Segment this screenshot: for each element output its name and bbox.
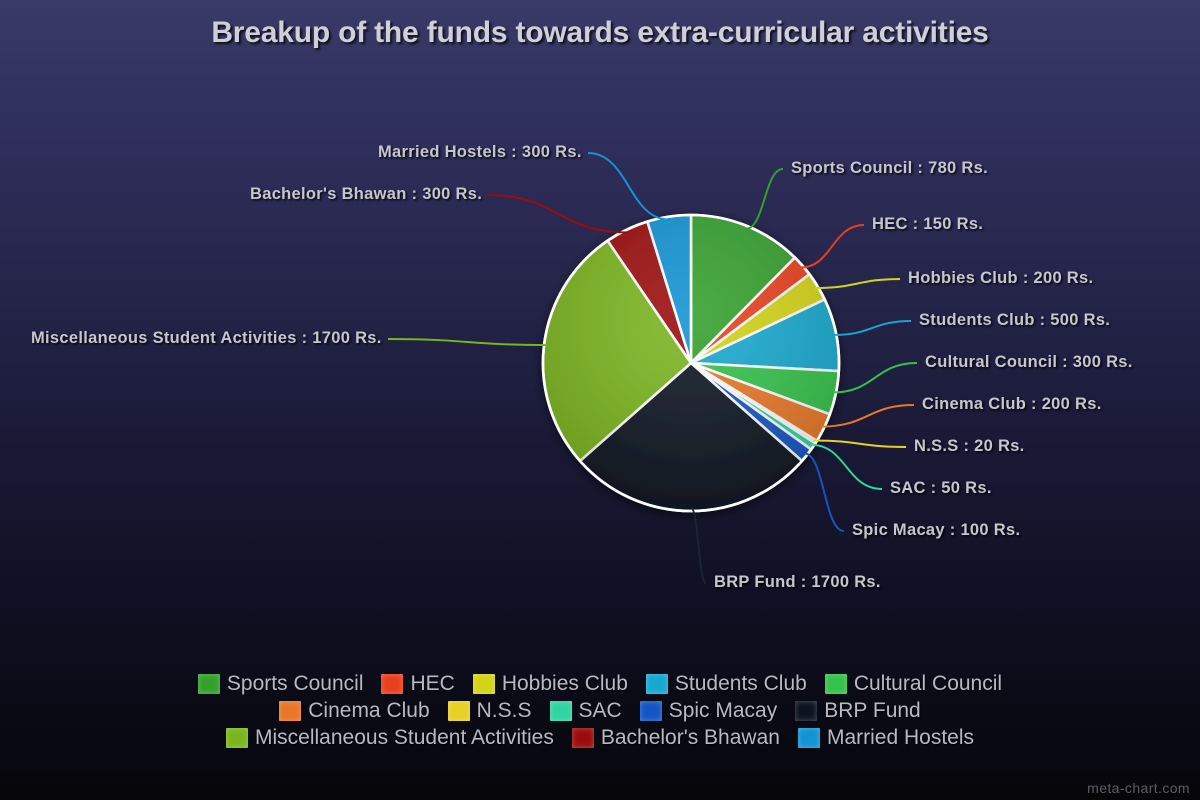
leader-line-married-hostels bbox=[588, 153, 669, 220]
legend-item-brp-fund[interactable]: BRP Fund bbox=[795, 699, 921, 723]
legend-swatch-icon bbox=[798, 728, 820, 748]
legend-label: Cultural Council bbox=[854, 672, 1002, 696]
pie-chart-figure: Breakup of the funds towards extra-curri… bbox=[0, 0, 1200, 800]
callout-label-spic-macay: Spic Macay : 100 Rs. bbox=[852, 521, 1020, 540]
legend-swatch-icon bbox=[279, 701, 301, 721]
leader-line-cinema-club bbox=[821, 405, 914, 427]
callout-label-sports-council: Sports Council : 780 Rs. bbox=[791, 159, 988, 178]
callout-label-hec: HEC : 150 Rs. bbox=[872, 215, 983, 234]
callout-label-cultural-council: Cultural Council : 300 Rs. bbox=[925, 353, 1133, 372]
legend-item-students-club[interactable]: Students Club bbox=[646, 672, 807, 696]
legend-label: N.S.S bbox=[477, 699, 532, 723]
callout-label-nss: N.S.S : 20 Rs. bbox=[914, 437, 1025, 456]
leader-line-hec bbox=[800, 225, 864, 268]
legend-swatch-icon bbox=[226, 728, 248, 748]
legend-item-hec[interactable]: HEC bbox=[381, 672, 454, 696]
legend-item-spic-macay[interactable]: Spic Macay bbox=[640, 699, 778, 723]
legend-item-cultural-council[interactable]: Cultural Council bbox=[825, 672, 1002, 696]
callout-label-students-club: Students Club : 500 Rs. bbox=[919, 311, 1110, 330]
legend-swatch-icon bbox=[550, 701, 572, 721]
legend-label: Bachelor's Bhawan bbox=[601, 726, 780, 750]
legend-swatch-icon bbox=[381, 674, 403, 694]
leader-line-brp-fund bbox=[691, 508, 706, 583]
callout-label-brp-fund: BRP Fund : 1700 Rs. bbox=[714, 573, 881, 592]
chart-legend: Sports CouncilHECHobbies ClubStudents Cl… bbox=[0, 672, 1200, 750]
leader-line-students-club bbox=[833, 321, 911, 335]
legend-label: HEC bbox=[410, 672, 454, 696]
leader-line-cultural-council bbox=[833, 363, 917, 392]
legend-item-n-s-s[interactable]: N.S.S bbox=[448, 699, 532, 723]
legend-swatch-icon bbox=[646, 674, 668, 694]
legend-swatch-icon bbox=[198, 674, 220, 694]
legend-item-sports-council[interactable]: Sports Council bbox=[198, 672, 364, 696]
legend-label: SAC bbox=[579, 699, 622, 723]
legend-label: BRP Fund bbox=[824, 699, 921, 723]
legend-item-miscellaneous-student-activities[interactable]: Miscellaneous Student Activities bbox=[226, 726, 554, 750]
legend-label: Sports Council bbox=[227, 672, 364, 696]
legend-item-married-hostels[interactable]: Married Hostels bbox=[798, 726, 974, 750]
callout-label-sac: SAC : 50 Rs. bbox=[890, 479, 992, 498]
legend-label: Miscellaneous Student Activities bbox=[255, 726, 554, 750]
legend-label: Spic Macay bbox=[669, 699, 778, 723]
legend-label: Hobbies Club bbox=[502, 672, 628, 696]
callout-label-cinema-club: Cinema Club : 200 Rs. bbox=[922, 395, 1102, 414]
callout-label-married-hostels: Married Hostels : 300 Rs. bbox=[378, 143, 582, 162]
callout-label-bachelors-bhawan: Bachelor's Bhawan : 300 Rs. bbox=[250, 185, 482, 204]
legend-swatch-icon bbox=[640, 701, 662, 721]
legend-label: Cinema Club bbox=[308, 699, 429, 723]
callout-label-miscellaneous: Miscellaneous Student Activities : 1700 … bbox=[31, 329, 382, 348]
legend-row: Cinema ClubN.S.SSACSpic MacayBRP Fund bbox=[270, 699, 929, 723]
legend-row: Sports CouncilHECHobbies ClubStudents Cl… bbox=[189, 672, 1011, 696]
leader-line-bachelors-bhawan bbox=[488, 195, 628, 232]
legend-swatch-icon bbox=[795, 701, 817, 721]
legend-swatch-icon bbox=[473, 674, 495, 694]
legend-item-hobbies-club[interactable]: Hobbies Club bbox=[473, 672, 628, 696]
callout-label-hobbies-club: Hobbies Club : 200 Rs. bbox=[908, 269, 1093, 288]
legend-swatch-icon bbox=[572, 728, 594, 748]
leader-line-spic-macay bbox=[804, 453, 844, 531]
pie-slice-group bbox=[543, 215, 839, 511]
legend-swatch-icon bbox=[448, 701, 470, 721]
leader-line-hobbies-club bbox=[815, 279, 900, 288]
watermark: meta-chart.com bbox=[1087, 780, 1190, 796]
legend-label: Students Club bbox=[675, 672, 807, 696]
leader-line-miscellaneous bbox=[388, 339, 547, 345]
leader-line-nss bbox=[814, 441, 906, 448]
legend-item-sac[interactable]: SAC bbox=[550, 699, 622, 723]
legend-item-cinema-club[interactable]: Cinema Club bbox=[279, 699, 429, 723]
legend-swatch-icon bbox=[825, 674, 847, 694]
legend-row: Miscellaneous Student ActivitiesBachelor… bbox=[217, 726, 983, 750]
legend-label: Married Hostels bbox=[827, 726, 974, 750]
leader-line-sports-council bbox=[746, 169, 783, 229]
legend-item-bachelor-s-bhawan[interactable]: Bachelor's Bhawan bbox=[572, 726, 780, 750]
